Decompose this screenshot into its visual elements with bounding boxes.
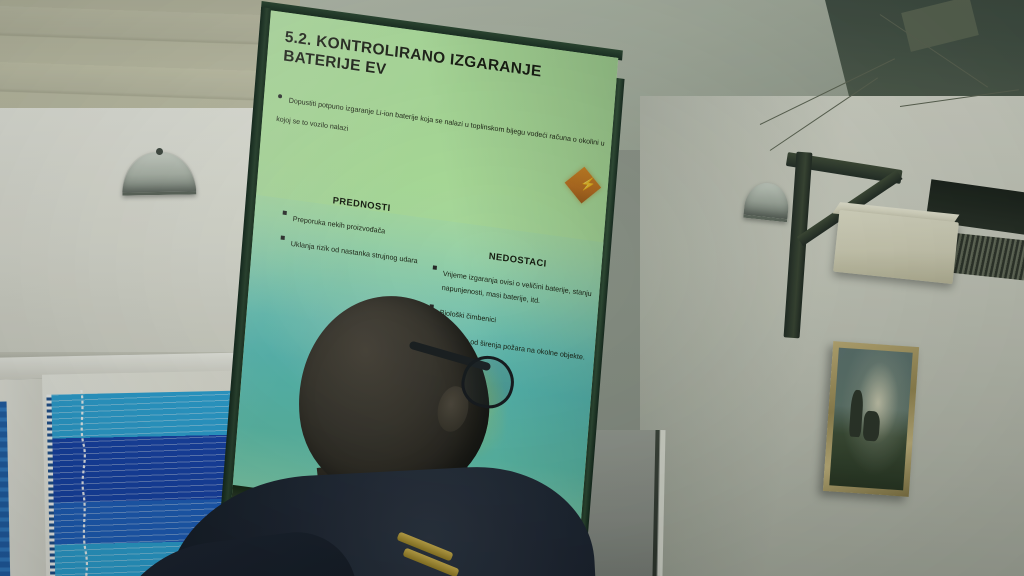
- speaker-box: [833, 210, 959, 284]
- presentation-room-photo: 5.2. KONTROLIRANO IZGARANJE BATERIJE EV …: [0, 0, 1024, 576]
- painting-canvas: [829, 348, 912, 491]
- painting-figure: [849, 390, 864, 438]
- framed-painting: [823, 341, 919, 497]
- painting-figure: [862, 410, 880, 441]
- bullet-square-icon: [283, 211, 287, 215]
- bullet-dot-icon: [278, 94, 282, 99]
- bullet-square-icon: [433, 265, 437, 269]
- wall-sconce-knob: [156, 148, 163, 155]
- lightning-bolt-icon: ⚡: [579, 176, 596, 192]
- bullet-square-icon: [281, 235, 285, 239]
- person-firefighter: [170, 290, 590, 576]
- slide-intro-text: Dopustiti potpuno izgaranje Li-ion bater…: [276, 97, 605, 148]
